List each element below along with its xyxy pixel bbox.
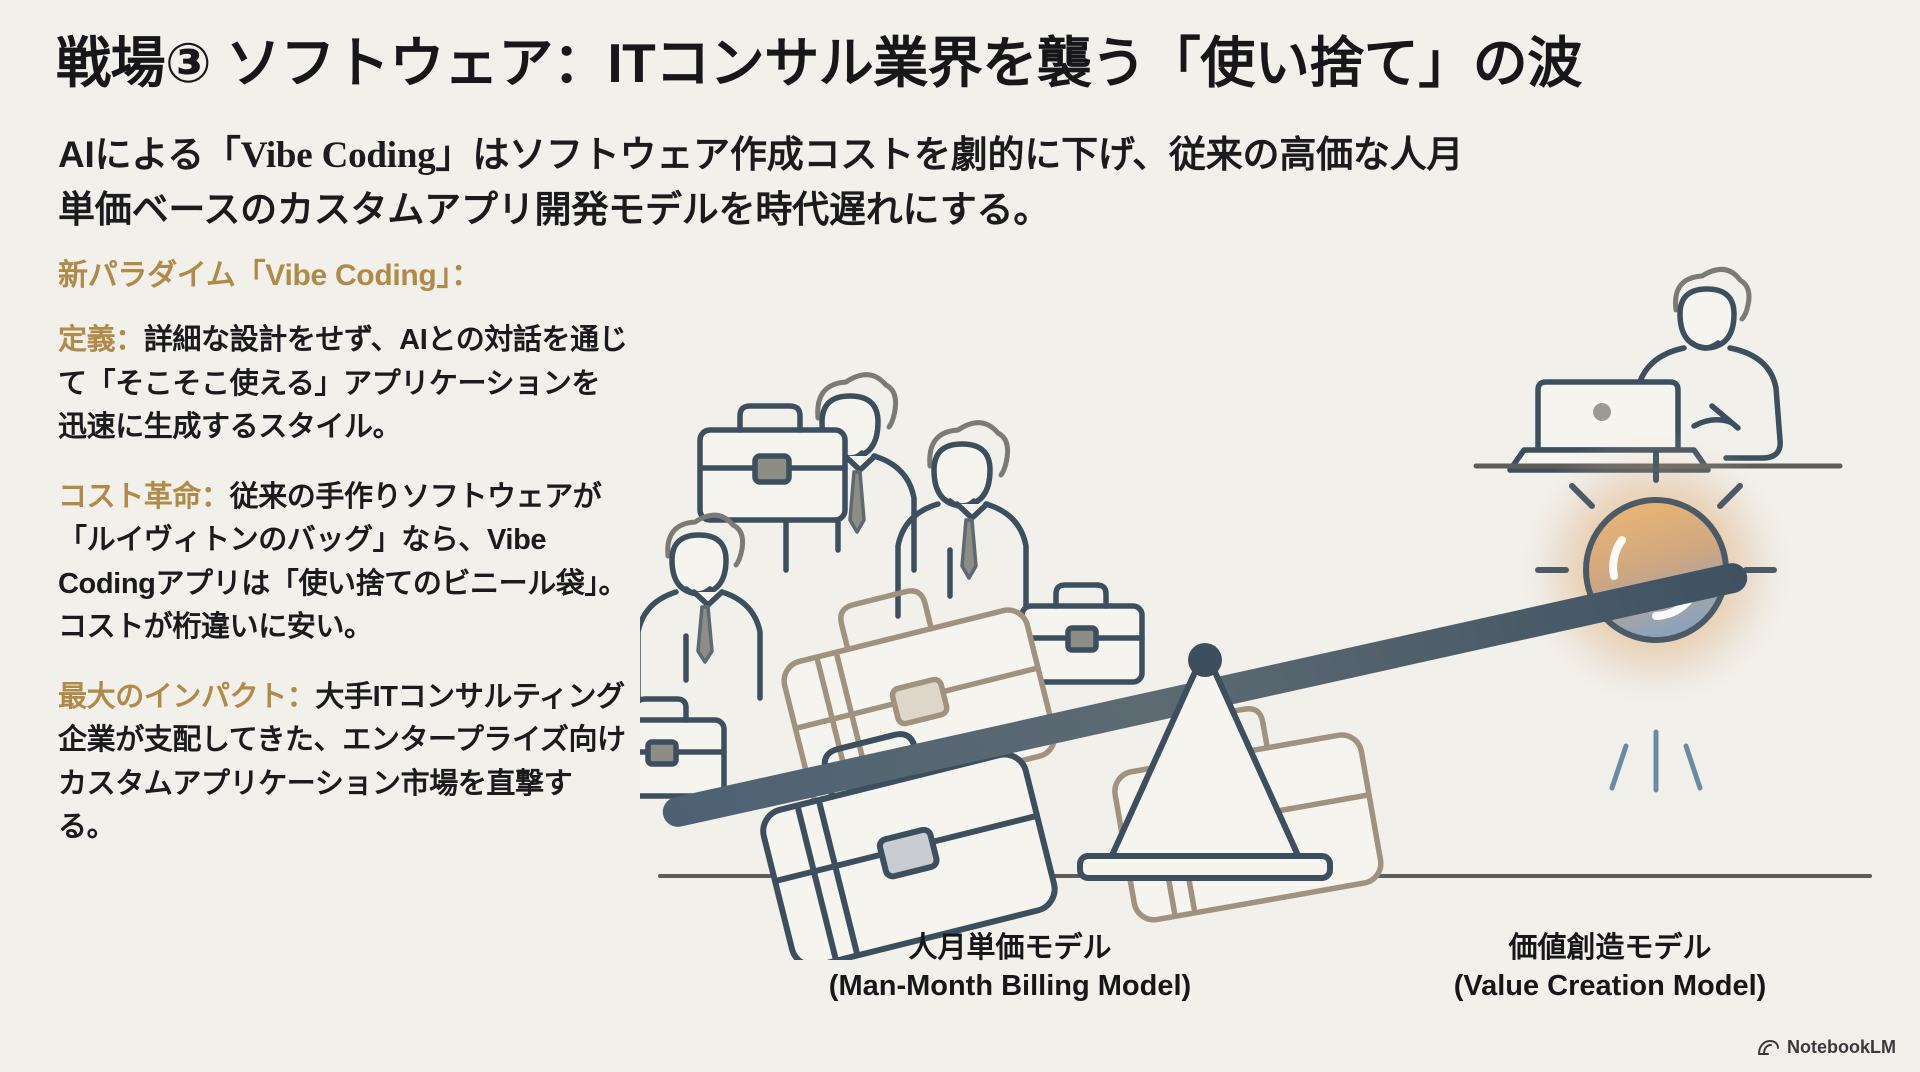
motion-lines <box>1612 732 1700 790</box>
subtitle-vibe-coding-term: Vibe Coding <box>241 135 436 176</box>
bullet-text-definition: 詳細な設計をせず、AIとの対話を通じて「そこそこ使える」アプリケーションを迅速に… <box>58 324 627 443</box>
caption-left-ja: 人月単価モデル <box>908 932 1111 964</box>
page-title: 戦場③ ソフトウェア：ITコンサル業界を襲う「使い捨て」の波 <box>56 32 1886 95</box>
notebooklm-logo-icon <box>1757 1039 1779 1057</box>
businessman-icon-3 <box>640 515 760 698</box>
subtitle-line-2: 単価ベースのカスタムアプリ開発モデルを時代遅れにする。 <box>58 189 1050 230</box>
lead-heading: 新パラダイム「Vibe Coding」： <box>58 256 628 295</box>
subtitle-part-2: 」はソフトウェア作成コストを劇的に下げ、従来の高価な人月 <box>436 134 1464 175</box>
caption-right: 価値創造モデル (Value Creation Model) <box>1330 930 1890 1005</box>
bullet-definition: 定義：詳細な設計をせず、AIとの対話を通じて「そこそこ使える」アプリケーションを… <box>58 319 628 450</box>
briefcase-icon-3 <box>640 699 724 796</box>
caption-left-en: (Man-Month Billing Model) <box>700 968 1320 1006</box>
bullet-biggest-impact: 最大のインパクト：大手ITコンサルティング企業が支配してきた、エンタープライズ向… <box>58 676 628 850</box>
left-content-column: 新パラダイム「Vibe Coding」： 定義：詳細な設計をせず、AIとの対話を… <box>58 256 628 876</box>
page-subtitle: AIによる「Vibe Coding」はソフトウェア作成コストを劇的に下げ、従来の… <box>58 128 1858 237</box>
bullet-cost-revolution: コスト革命：従来の手作りソフトウェアが「ルイヴィトンのバッグ」なら、Vibe C… <box>58 476 628 650</box>
businessman-icon-2 <box>898 423 1026 616</box>
notebooklm-watermark: NotebookLM <box>1757 1037 1896 1058</box>
caption-right-en: (Value Creation Model) <box>1330 968 1890 1006</box>
seesaw-svg <box>640 240 1890 960</box>
bullet-label-cost-revolution: コスト革命： <box>58 481 230 513</box>
seesaw-illustration <box>640 240 1890 960</box>
slide-root: 戦場③ ソフトウェア：ITコンサル業界を襲う「使い捨て」の波 AIによる「Vib… <box>0 0 1920 1072</box>
bullet-label-biggest-impact: 最大のインパクト： <box>58 681 315 713</box>
caption-left: 人月単価モデル (Man-Month Billing Model) <box>700 930 1320 1005</box>
subtitle-part-1: AIによる「 <box>58 134 241 175</box>
caption-right-ja: 価値創造モデル <box>1508 932 1711 964</box>
notebooklm-label: NotebookLM <box>1787 1037 1896 1058</box>
bullet-label-definition: 定義： <box>58 324 144 356</box>
